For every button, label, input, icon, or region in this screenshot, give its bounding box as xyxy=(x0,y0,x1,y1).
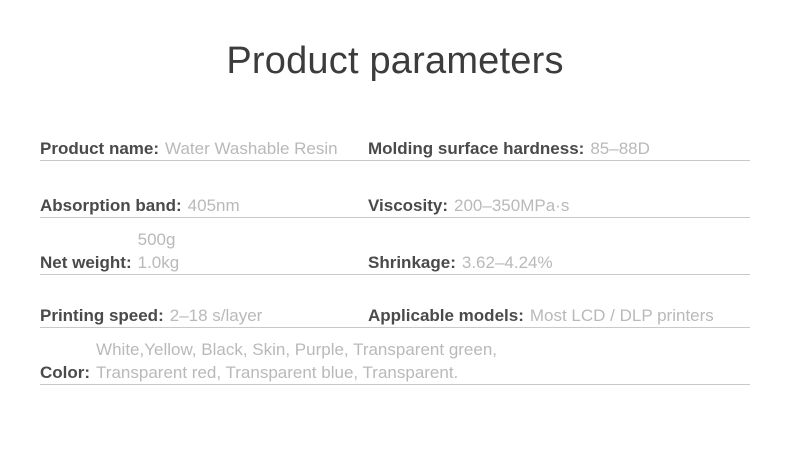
spec-value-color: White,Yellow, Black, Skin, Purple, Trans… xyxy=(96,338,497,384)
spec-value-color-line-2: Transparent red, Transparent blue, Trans… xyxy=(96,361,497,384)
table-row: Net weight: 500g 1.0kg Shrinkage: 3.62–4… xyxy=(40,218,750,275)
table-row: Absorption band: 405nm Viscosity: 200–35… xyxy=(40,161,750,218)
spec-cell-absorption-band: Absorption band: 405nm xyxy=(40,195,368,217)
specification-table: Product name: Water Washable Resin Moldi… xyxy=(40,118,750,385)
spec-value-printing-speed: 2–18 s/layer xyxy=(170,305,263,327)
spec-label-viscosity: Viscosity: xyxy=(368,195,454,217)
spec-label-net-weight: Net weight: xyxy=(40,252,138,274)
spec-cell-printing-speed: Printing speed: 2–18 s/layer xyxy=(40,305,368,327)
spec-value-shrinkage: 3.62–4.24% xyxy=(462,252,553,274)
table-row: Product name: Water Washable Resin Moldi… xyxy=(40,118,750,161)
spec-cell-shrinkage: Shrinkage: 3.62–4.24% xyxy=(368,252,750,274)
spec-value-applicable-models: Most LCD / DLP printers xyxy=(530,305,714,327)
spec-value-absorption-band: 405nm xyxy=(188,195,240,217)
spec-label-color: Color: xyxy=(40,362,96,384)
table-row: Printing speed: 2–18 s/layer Applicable … xyxy=(40,275,750,328)
spec-cell-molding-surface-hardness: Molding surface hardness: 85–88D xyxy=(368,138,750,160)
spec-value-viscosity: 200–350MPa·s xyxy=(454,195,569,217)
spec-label-applicable-models: Applicable models: xyxy=(368,305,530,327)
spec-value-net-weight-line-2: 1.0kg xyxy=(138,251,180,274)
spec-cell-applicable-models: Applicable models: Most LCD / DLP printe… xyxy=(368,305,750,327)
spec-value-molding-surface-hardness: 85–88D xyxy=(590,138,650,160)
spec-value-net-weight: 500g 1.0kg xyxy=(138,228,180,274)
spec-value-net-weight-line-1: 500g xyxy=(138,228,180,251)
product-parameters-page: Product parameters Product name: Water W… xyxy=(0,0,790,461)
spec-label-molding-surface-hardness: Molding surface hardness: xyxy=(368,138,590,160)
spec-cell-net-weight: Net weight: 500g 1.0kg xyxy=(40,228,368,274)
spec-value-product-name: Water Washable Resin xyxy=(165,138,338,160)
table-row: Color: White,Yellow, Black, Skin, Purple… xyxy=(40,328,750,385)
spec-cell-color: Color: White,Yellow, Black, Skin, Purple… xyxy=(40,338,368,384)
spec-label-absorption-band: Absorption band: xyxy=(40,195,188,217)
spec-value-color-line-1: White,Yellow, Black, Skin, Purple, Trans… xyxy=(96,338,497,361)
page-title: Product parameters xyxy=(0,38,790,84)
spec-label-printing-speed: Printing speed: xyxy=(40,305,170,327)
spec-cell-viscosity: Viscosity: 200–350MPa·s xyxy=(368,195,750,217)
spec-label-product-name: Product name: xyxy=(40,138,165,160)
spec-label-shrinkage: Shrinkage: xyxy=(368,252,462,274)
spec-cell-product-name: Product name: Water Washable Resin xyxy=(40,138,368,160)
